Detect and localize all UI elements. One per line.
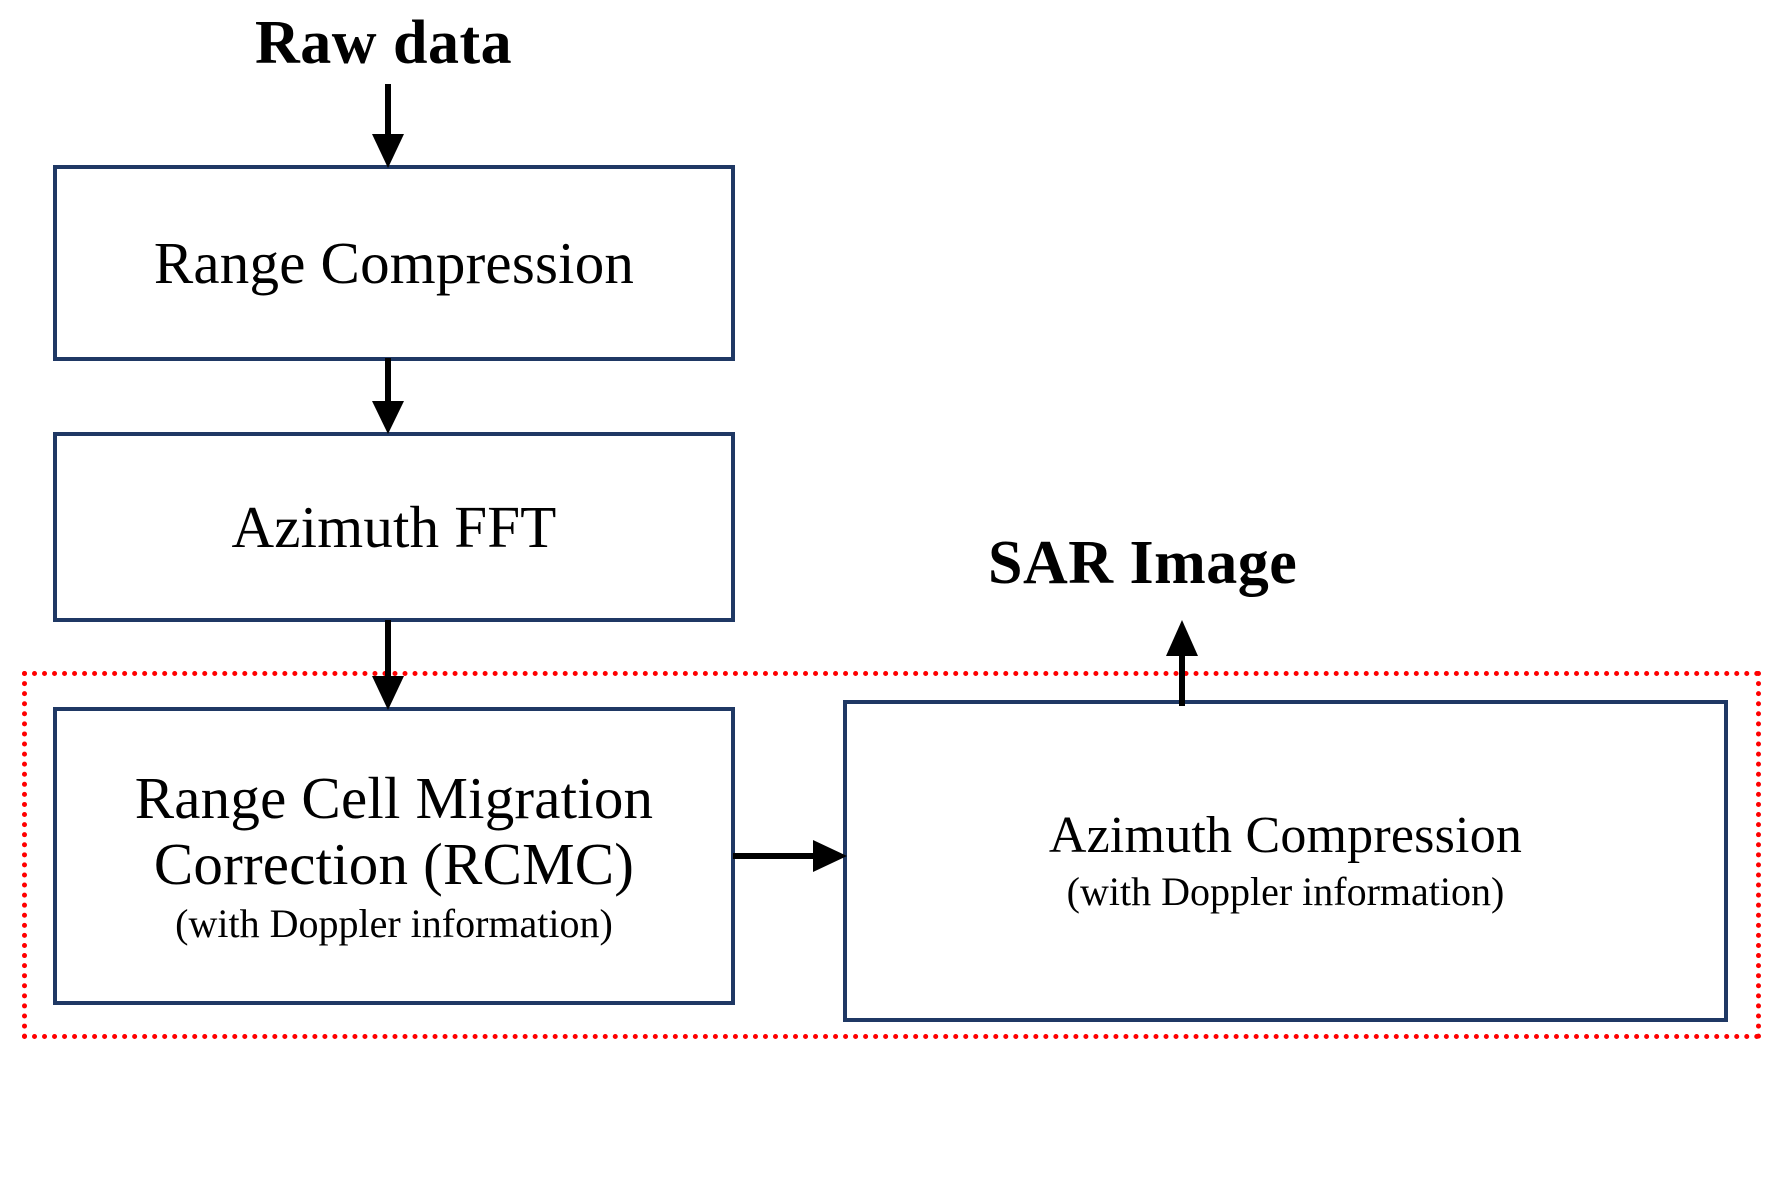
sar-image-label: SAR Image: [988, 528, 1297, 599]
arrow-azimuth-fft-to-rcmc: [368, 620, 408, 712]
arrow-range-compression-to-azimuth-fft: [368, 358, 408, 436]
node-range-compression-label: Range Compression: [154, 230, 634, 296]
node-rcmc-sublabel: (with Doppler information): [175, 901, 613, 947]
node-azimuth-compression-label: Azimuth Compression: [1049, 807, 1522, 865]
diagram-canvas: Raw data Range Compression Azimuth FFT R…: [0, 0, 1779, 1197]
arrow-rcmc-to-azimuth-compression: [733, 836, 849, 876]
arrow-azimuth-compression-to-sar-image: [1162, 620, 1202, 706]
raw-data-label: Raw data: [255, 8, 512, 79]
node-azimuth-compression-sublabel: (with Doppler information): [1067, 869, 1505, 915]
arrow-rawdata-to-range-compression: [368, 84, 408, 170]
node-azimuth-fft-label: Azimuth FFT: [231, 494, 556, 560]
node-rcmc[interactable]: Range Cell Migration Correction (RCMC) (…: [53, 707, 735, 1005]
node-rcmc-label: Range Cell Migration Correction (RCMC): [135, 765, 654, 897]
node-azimuth-fft[interactable]: Azimuth FFT: [53, 432, 735, 622]
node-range-compression[interactable]: Range Compression: [53, 165, 735, 361]
node-azimuth-compression[interactable]: Azimuth Compression (with Doppler inform…: [843, 700, 1728, 1022]
